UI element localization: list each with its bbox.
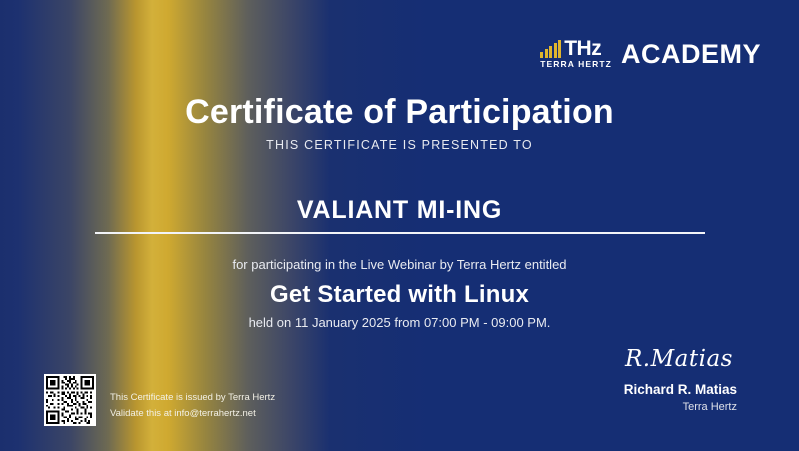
signatory-name: Richard R. Matias — [624, 383, 737, 397]
issued-by-text: This Certificate is issued by Terra Hert… — [110, 390, 275, 406]
brand-logo: THz TERRA HERTZ ACADEMY — [540, 36, 761, 69]
signal-bars-icon — [540, 40, 561, 58]
certificate-canvas: THz TERRA HERTZ ACADEMY Certificate of P… — [0, 0, 799, 451]
course-title: Get Started with Linux — [0, 281, 799, 309]
qr-code-icon — [44, 374, 96, 426]
terra-hertz-logo-mark: THz TERRA HERTZ — [540, 36, 612, 69]
footer-text-block: This Certificate is issued by Terra Hert… — [110, 390, 275, 421]
validate-text: Validate this at info@terrahertz.net — [110, 406, 275, 422]
participation-intro-text: for participating in the Live Webinar by… — [0, 257, 799, 272]
logo-mark-text: THz — [564, 39, 601, 58]
footer-block: This Certificate is issued by Terra Hert… — [44, 374, 275, 426]
signatory-organization: Terra Hertz — [624, 402, 737, 413]
signature-block: R.Matias Richard R. Matias Terra Hertz — [624, 348, 737, 413]
page-title: Certificate of Participation — [0, 93, 799, 132]
logo-top-row: THz — [540, 36, 601, 58]
recipient-name: VALIANT MI-ING — [0, 196, 799, 225]
signature-script: R.Matias — [624, 348, 737, 371]
qr-code-svg — [46, 376, 94, 424]
schedule-text: held on 11 January 2025 from 07:00 PM - … — [0, 315, 799, 330]
academy-label: ACADEMY — [621, 41, 761, 68]
presented-to-label: THIS CERTIFICATE IS PRESENTED TO — [0, 138, 799, 152]
logo-mark-subtext: TERRA HERTZ — [540, 60, 612, 69]
divider-rule — [95, 232, 705, 234]
